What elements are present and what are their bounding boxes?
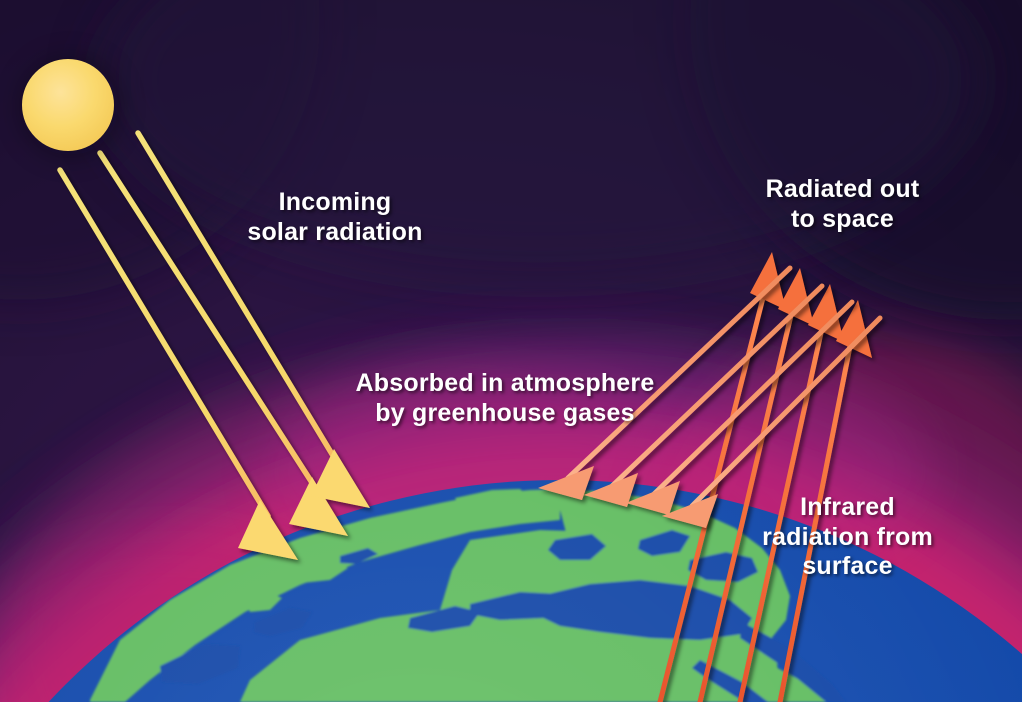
greenhouse-effect-diagram: Incoming solar radiation Radiated out to… [0,0,1022,702]
diagram-canvas [0,0,1022,702]
sun [22,59,118,155]
